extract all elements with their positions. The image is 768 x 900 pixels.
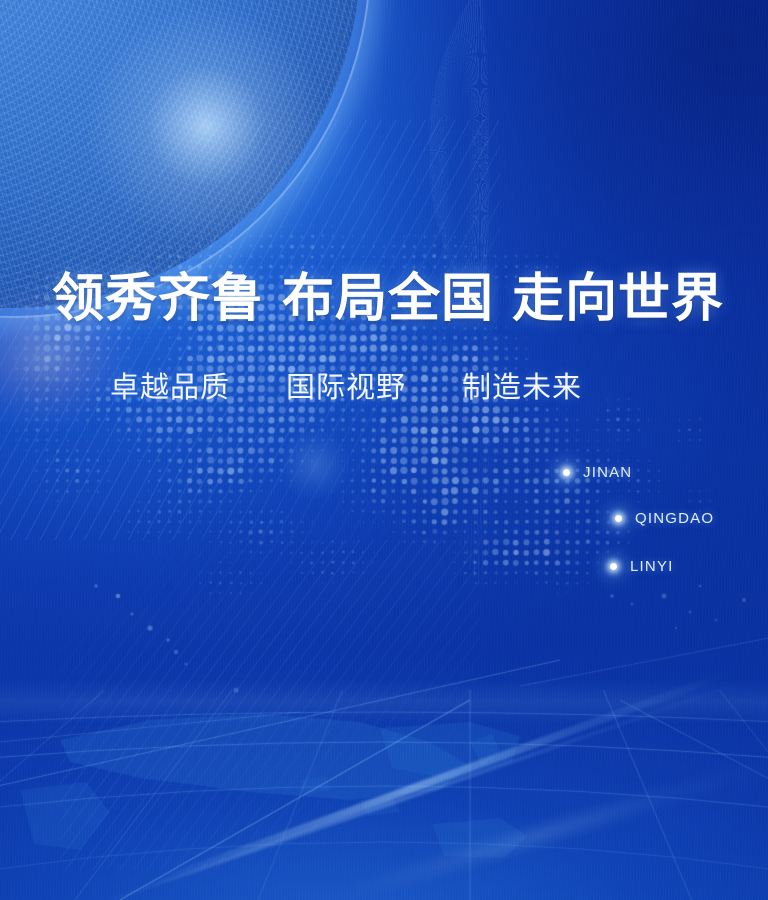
city-marker-jinan[interactable]: JINAN xyxy=(563,464,632,481)
subline-segment-1: 卓越品质 xyxy=(110,370,230,404)
city-label-jinan: JINAN xyxy=(583,464,632,481)
banner-headline: 领秀齐鲁布局全国走向世界 xyxy=(52,270,724,328)
city-marker-linyi[interactable]: LINYI xyxy=(610,558,674,575)
city-label-linyi: LINYI xyxy=(630,558,674,575)
headline-segment-3: 走向世界 xyxy=(512,268,724,329)
subline-segment-2: 国际视野 xyxy=(286,370,406,404)
headline-segment-2: 布局全国 xyxy=(282,268,494,329)
perspective-globe-grid xyxy=(0,0,768,900)
subline-segment-3: 制造未来 xyxy=(462,370,582,404)
city-dot-icon xyxy=(610,563,617,570)
city-dot-icon xyxy=(615,515,622,522)
hero-banner: 领秀齐鲁布局全国走向世界 卓越品质国际视野制造未来 JINAN QINGDAO … xyxy=(0,0,768,900)
city-dot-icon xyxy=(563,469,570,476)
headline-segment-1: 领秀齐鲁 xyxy=(52,268,264,329)
banner-subline: 卓越品质国际视野制造未来 xyxy=(110,370,582,404)
city-marker-qingdao[interactable]: QINGDAO xyxy=(615,510,714,527)
city-label-qingdao: QINGDAO xyxy=(635,510,714,527)
